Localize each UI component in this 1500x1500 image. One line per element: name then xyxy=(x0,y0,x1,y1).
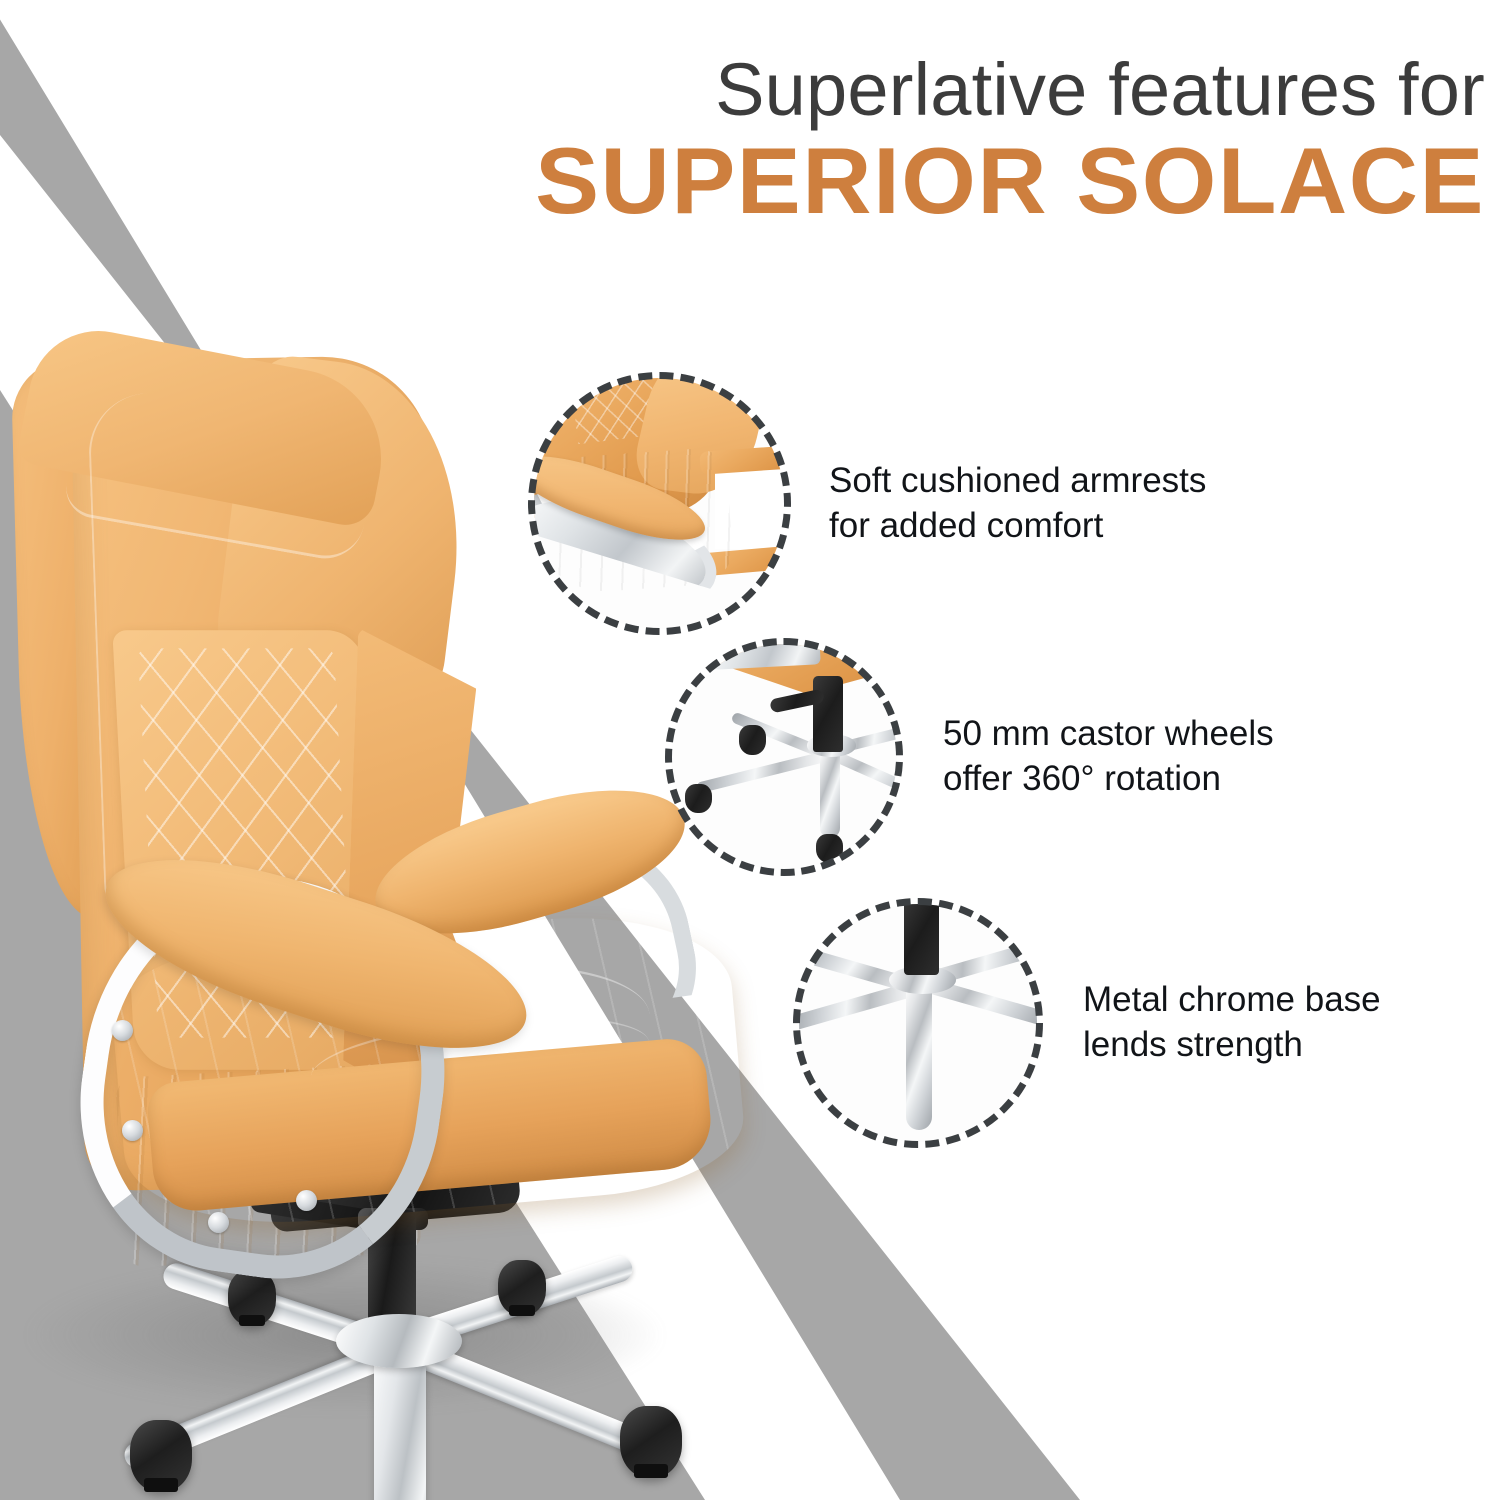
callout-chrome-base-photo xyxy=(799,904,1037,1142)
base-zoom-front-spoke xyxy=(906,983,932,1131)
feature-row-armrests: Soft cushioned armrests for added comfor… xyxy=(528,372,1389,635)
armrest-rivet xyxy=(208,1212,229,1233)
headline-line-1: Superlative features for xyxy=(300,52,1485,129)
castor-zoom-wheel xyxy=(685,784,712,813)
chair-castor-wheel xyxy=(620,1406,682,1478)
armrest-rivet xyxy=(296,1190,317,1211)
product-feature-banner: Superlative features for SUPERIOR SOLACE xyxy=(0,0,1500,1500)
feature-row-castor-wheels: 50 mm castor wheels offer 360° rotation xyxy=(665,638,1413,876)
armrest-rivet xyxy=(112,1020,133,1041)
castor-zoom-wheel xyxy=(816,834,843,863)
armrest-rivet xyxy=(122,1120,143,1141)
feature-label-chrome-base: Metal chrome base lends strength xyxy=(1083,978,1500,1068)
chair-castor-wheel xyxy=(228,1270,276,1326)
castor-zoom-spoke xyxy=(696,750,830,793)
castor-zoom-wheel xyxy=(739,725,766,754)
chair-castor-wheel xyxy=(130,1420,192,1492)
headline-line-2: SUPERIOR SOLACE xyxy=(276,133,1485,229)
chair-base-hub xyxy=(336,1314,462,1368)
feature-row-chrome-base: Metal chrome base lends strength xyxy=(793,898,1500,1148)
chair-base-front-spoke xyxy=(374,1346,426,1500)
callout-circle-chrome-base[interactable] xyxy=(793,898,1043,1148)
feature-label-castor-wheels: 50 mm castor wheels offer 360° rotation xyxy=(943,712,1413,802)
castor-zoom-gas-cylinder xyxy=(813,676,842,753)
feature-label-armrests: Soft cushioned armrests for added comfor… xyxy=(829,459,1389,549)
chair-castor-wheel xyxy=(498,1260,546,1316)
headline: Superlative features for SUPERIOR SOLACE xyxy=(300,52,1485,229)
callout-castor-photo xyxy=(671,644,897,870)
callout-circle-armrests[interactable] xyxy=(528,372,791,635)
base-zoom-gas-cylinder xyxy=(904,904,940,975)
callout-armrest-photo xyxy=(534,378,785,629)
castor-zoom-front-spoke xyxy=(820,748,840,838)
callout-circle-castor-wheels[interactable] xyxy=(665,638,903,876)
